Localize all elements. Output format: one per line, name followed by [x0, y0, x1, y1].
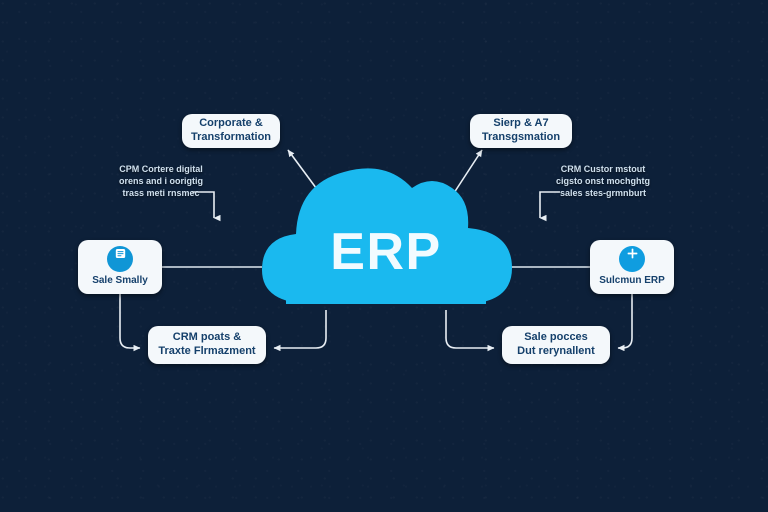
diagram-canvas: ERP Corporate & Transformation Sierp & A…: [0, 0, 768, 512]
crm-digital-caption-line1: CPM Cortere digital: [96, 163, 226, 175]
sale-smally-card[interactable]: Sale Smally: [78, 240, 162, 294]
crm-goals-trade-management-card[interactable]: CRM poats & Traxte Flrmazment: [148, 326, 266, 364]
solution-erp-card[interactable]: Sulcmun ERP: [590, 240, 674, 294]
crm-customer-caption-line1: CRM Custor mstout: [538, 163, 668, 175]
sale-process-line2: Dut rerynallent: [517, 345, 595, 359]
sale-smally-label: Sale Smally: [92, 275, 148, 288]
crm-customer-caption-line2: cigsto onst mochghtg: [538, 175, 668, 187]
sierp-ai-transformation-line2: Transgsmation: [482, 131, 560, 145]
sale-process-line1: Sale pocces: [524, 331, 588, 345]
corporate-transformation-line2: Transformation: [191, 131, 271, 145]
sierp-ai-transformation-line1: Sierp & A7: [493, 117, 548, 131]
document-circle-icon: [107, 246, 133, 272]
corporate-transformation-line1: Corporate &: [199, 117, 263, 131]
plus-circle-icon: [619, 246, 645, 272]
wire-cloud-to-bottom-left: [274, 310, 326, 348]
erp-cloud: ERP: [246, 154, 526, 314]
crm-customer-caption: CRM Custor mstout cigsto onst mochghtg s…: [538, 163, 668, 199]
crm-digital-caption-line2: orens and i oorigtig: [96, 175, 226, 187]
wire-right-card-to-bottom-right: [618, 294, 632, 348]
crm-goals-line1: CRM poats &: [173, 331, 241, 345]
crm-digital-caption: CPM Cortere digital orens and i oorigtig…: [96, 163, 226, 199]
crm-digital-caption-line3: trass meti rnsmec: [96, 187, 226, 199]
wire-cloud-to-bottom-right: [446, 310, 494, 348]
solution-erp-label: Sulcmun ERP: [599, 275, 665, 288]
wire-left-card-to-bottom-left: [120, 294, 140, 348]
crm-goals-line2: Traxte Flrmazment: [158, 345, 255, 359]
crm-customer-caption-line3: sales stes-grmnburt: [538, 187, 668, 199]
corporate-transformation-card[interactable]: Corporate & Transformation: [182, 114, 280, 148]
sale-process-management-card[interactable]: Sale pocces Dut rerynallent: [502, 326, 610, 364]
erp-cloud-label: ERP: [246, 154, 526, 314]
sierp-ai-transformation-card[interactable]: Sierp & A7 Transgsmation: [470, 114, 572, 148]
